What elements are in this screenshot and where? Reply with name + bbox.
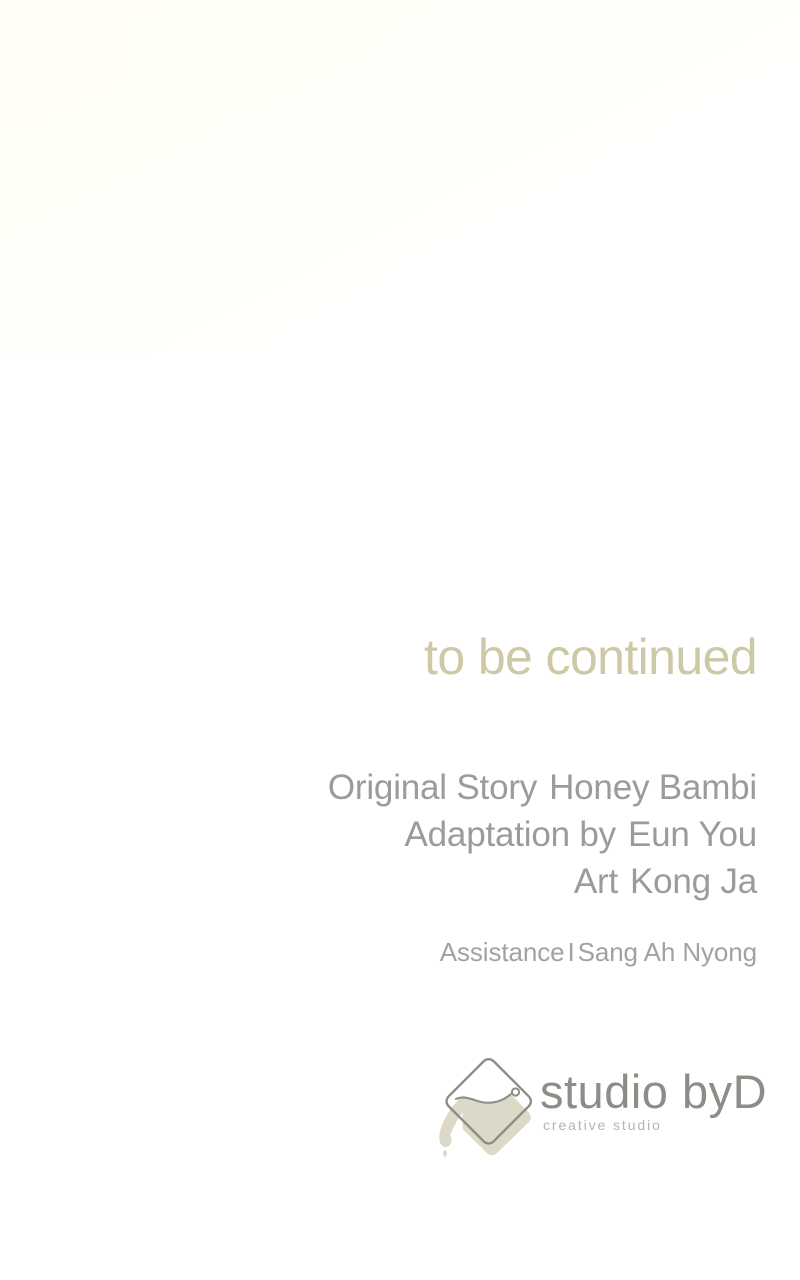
credit-name-value: Honey Bambi: [549, 768, 757, 807]
diamond-pour-icon: [432, 1052, 542, 1160]
credits-list: Original StoryHoney Bambi Adaptation byE…: [0, 764, 757, 905]
credit-line-original-story: Original StoryHoney Bambi: [0, 764, 757, 811]
credit-role-label: Adaptation by: [405, 815, 616, 854]
studio-byd-logo: studio byD creative studio: [432, 1052, 757, 1160]
credit-role-label: Original Story: [328, 768, 537, 807]
studio-byd-wordmark: studio byD creative studio: [540, 1066, 757, 1146]
assistance-separator: I: [564, 936, 577, 968]
credit-name-value: Kong Ja: [630, 862, 757, 901]
paper-tint-overlay: [0, 0, 800, 360]
credit-line-art: ArtKong Ja: [0, 858, 757, 905]
creative-studio-tagline: creative studio: [543, 1116, 757, 1134]
credit-role-label: Art: [574, 862, 618, 901]
assistance-role-label: Assistance: [440, 937, 565, 967]
assistance-line: AssistanceISang Ah Nyong: [0, 936, 757, 968]
credit-name-value: Eun You: [628, 815, 757, 854]
to-be-continued-text: to be continued: [0, 628, 757, 686]
studio-byd-text: studio byD: [540, 1066, 757, 1118]
credits-block: to be continued Original StoryHoney Bamb…: [0, 628, 757, 968]
assistance-names: Sang Ah Nyong: [578, 937, 757, 967]
end-card-page: to be continued Original StoryHoney Bamb…: [0, 0, 800, 1280]
credit-line-adaptation: Adaptation byEun You: [0, 811, 757, 858]
